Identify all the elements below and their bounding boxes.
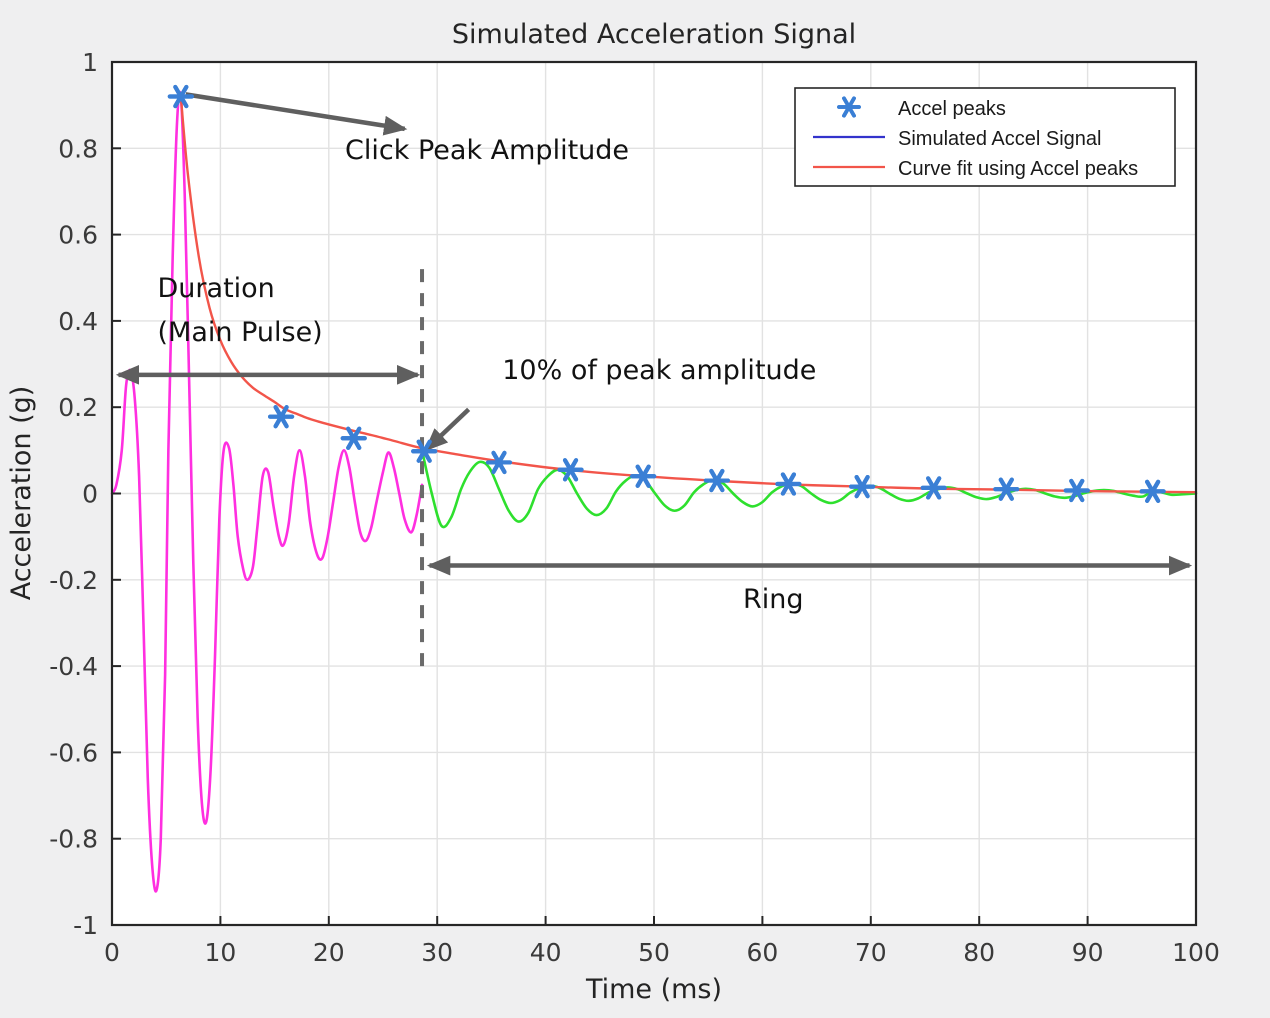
annotation-label-duration-main-pulse: Duration: [158, 273, 275, 304]
y-tick-label: -0.4: [49, 652, 98, 681]
x-tick-label: 60: [746, 938, 778, 967]
annotation-label-click-peak-amplitude: Click Peak Amplitude: [345, 135, 629, 166]
legend-label: Curve fit using Accel peaks: [898, 158, 1138, 180]
x-tick-label: 80: [963, 938, 995, 967]
y-tick-label: -0.8: [49, 825, 98, 854]
acceleration-chart: Click Peak AmplitudeDuration(Main Pulse)…: [0, 0, 1270, 1018]
y-tick-label: -0.2: [49, 566, 98, 595]
x-tick-label: 40: [530, 938, 562, 967]
y-tick-label: 0.8: [58, 134, 98, 163]
legend-label: Accel peaks: [898, 98, 1006, 120]
x-tick-label: 70: [855, 938, 887, 967]
x-tick-label: 0: [104, 938, 120, 967]
x-tick-label: 100: [1172, 938, 1220, 967]
legend-label: Simulated Accel Signal: [898, 128, 1101, 150]
page-title: Simulated Acceleration Signal: [452, 19, 856, 50]
x-tick-label: 30: [421, 938, 453, 967]
x-tick-label: 50: [638, 938, 670, 967]
x-tick-label: 10: [204, 938, 236, 967]
y-tick-label: 0.2: [58, 393, 98, 422]
chart-figure: Click Peak AmplitudeDuration(Main Pulse)…: [0, 0, 1270, 1018]
y-tick-label: 0: [82, 480, 98, 509]
y-tick-label: -1: [73, 911, 98, 940]
y-tick-label: 1: [82, 48, 98, 77]
y-axis-label: Acceleration (g): [6, 386, 37, 601]
x-tick-label: 90: [1072, 938, 1104, 967]
annotation-label-ten-percent-peak: 10% of peak amplitude: [502, 355, 816, 386]
annotation-label-ring: Ring: [743, 584, 804, 615]
y-tick-label: 0.6: [58, 221, 98, 250]
y-tick-label: 0.4: [58, 307, 98, 336]
y-tick-label: -0.6: [49, 738, 98, 767]
x-tick-label: 20: [313, 938, 345, 967]
chart-legend[interactable]: Accel peaksSimulated Accel SignalCurve f…: [795, 88, 1175, 186]
annotation-label-duration-main-pulse-line2: (Main Pulse): [158, 317, 323, 348]
x-axis-label: Time (ms): [585, 974, 722, 1005]
